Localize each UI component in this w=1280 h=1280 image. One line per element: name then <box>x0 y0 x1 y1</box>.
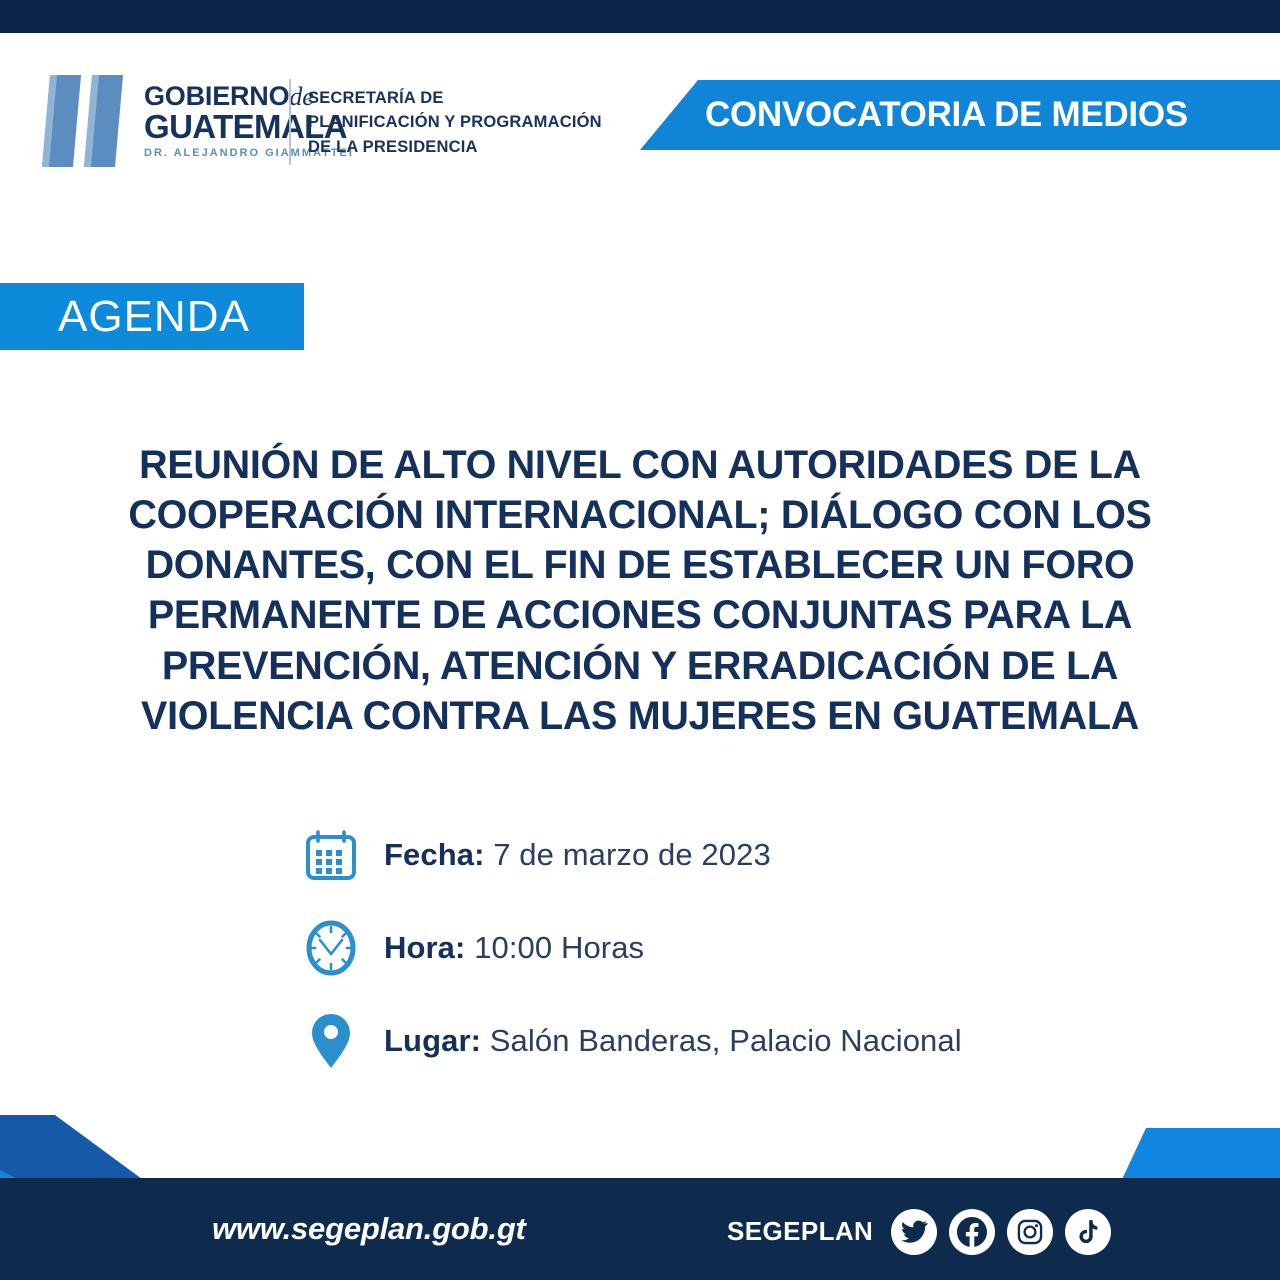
top-navy-bar <box>0 0 1280 33</box>
clock-icon <box>300 920 362 976</box>
title-line: PREVENCIÓN, ATENCIÓN Y ERRADICACIÓN DE L… <box>55 641 1225 691</box>
detail-row-hora: Hora: 10:00 Horas <box>300 918 962 978</box>
detail-label-fecha: Fecha: <box>384 837 485 872</box>
detail-text-hora: Hora: 10:00 Horas <box>384 930 644 966</box>
title-line: DONANTES, CON EL FIN DE ESTABLECER UN FO… <box>55 540 1225 590</box>
footer-brand-label: SEGEPLAN <box>727 1216 873 1247</box>
secretariat-line-1: SECRETARÍA DE <box>308 86 602 110</box>
detail-value-fecha: 7 de marzo de 2023 <box>485 837 771 872</box>
detail-label-lugar: Lugar: <box>384 1023 481 1058</box>
footer-website-url[interactable]: www.segeplan.gob.gt <box>212 1211 526 1247</box>
title-line: COOPERACIÓN INTERNACIONAL; DIÁLOGO CON L… <box>55 490 1225 540</box>
map-pin-icon <box>300 1012 362 1070</box>
detail-text-lugar: Lugar: Salón Banderas, Palacio Nacional <box>384 1023 962 1059</box>
detail-row-fecha: Fecha: 7 de marzo de 2023 <box>300 825 962 885</box>
instagram-icon[interactable] <box>1007 1209 1053 1255</box>
detail-value-lugar: Salón Banderas, Palacio Nacional <box>481 1023 962 1058</box>
facebook-icon[interactable] <box>949 1209 995 1255</box>
page-header: GOBIERNOde GUATEMALA DR. ALEJANDRO GIAMM… <box>0 33 1280 183</box>
detail-text-fecha: Fecha: 7 de marzo de 2023 <box>384 837 771 873</box>
title-line: PERMANENTE DE ACCIONES CONJUNTAS PARA LA <box>55 590 1225 640</box>
convocatoria-label: CONVOCATORIA DE MEDIOS <box>705 95 1188 135</box>
agenda-tab: AGENDA <box>0 283 304 350</box>
tiktok-icon[interactable] <box>1065 1209 1111 1255</box>
title-line: VIOLENCIA CONTRA LAS MUJERES EN GUATEMAL… <box>55 691 1225 741</box>
social-links <box>891 1209 1111 1255</box>
convocatoria-banner: CONVOCATORIA DE MEDIOS <box>640 80 1280 150</box>
detail-row-lugar: Lugar: Salón Banderas, Palacio Nacional <box>300 1011 962 1071</box>
calendar-icon <box>300 828 362 882</box>
event-title: REUNIÓN DE ALTO NIVEL CON AUTORIDADES DE… <box>0 440 1280 741</box>
header-divider <box>289 79 291 165</box>
secretariat-line-3: DE LA PRESIDENCIA <box>308 135 602 159</box>
title-line: REUNIÓN DE ALTO NIVEL CON AUTORIDADES DE… <box>55 440 1225 490</box>
logo-gobierno-word: GOBIERNO <box>144 81 289 111</box>
twitter-icon[interactable] <box>891 1209 937 1255</box>
agenda-label: AGENDA <box>58 292 250 342</box>
detail-value-hora: 10:00 Horas <box>465 930 644 965</box>
logo-bars-icon <box>42 75 130 167</box>
secretariat-line-2: PLANIFICACIÓN Y PROGRAMACIÓN <box>308 110 602 134</box>
event-details: Fecha: 7 de marzo de 2023 Hora: 10:00 Ho… <box>300 825 962 1104</box>
detail-label-hora: Hora: <box>384 930 465 965</box>
secretariat-text: SECRETARÍA DE PLANIFICACIÓN Y PROGRAMACI… <box>308 86 602 159</box>
